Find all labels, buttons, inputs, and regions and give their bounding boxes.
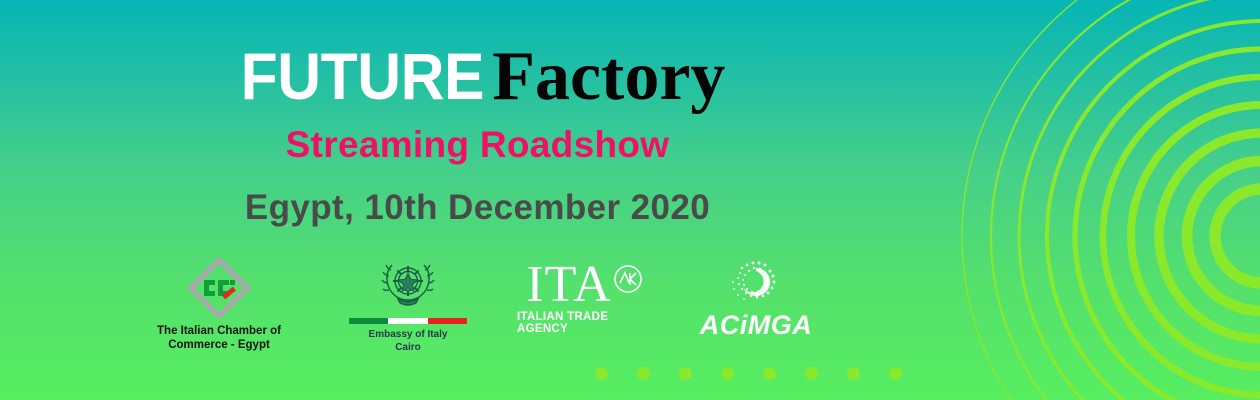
dot-row-decoration <box>595 367 902 380</box>
embassy-caption-line-1: Embassy of Italy <box>369 328 448 341</box>
acimga-wordmark: ACiMGA <box>700 310 813 341</box>
decor-dot <box>847 367 860 380</box>
event-banner: FUTUREFactory Streaming Roadshow Egypt, … <box>0 0 1260 400</box>
tricolor-band-green <box>349 318 388 324</box>
ita-caption: ITALIAN TRADE AGENCY <box>517 311 652 335</box>
event-title: FUTUREFactory <box>0 42 955 112</box>
event-date-location: Egypt, 10th December 2020 <box>0 188 955 228</box>
italian-tricolor-bar <box>349 318 467 324</box>
ita-circle-monogram-icon <box>613 264 643 294</box>
ita-letters: ITA <box>526 260 611 309</box>
tricolor-band-white <box>388 318 427 324</box>
decor-dot <box>637 367 650 380</box>
logo-acimga: ACiMGA <box>696 256 816 341</box>
decor-dot <box>889 367 902 380</box>
decor-dot <box>805 367 818 380</box>
logo-embassy-of-italy-cairo: Embassy of Italy Cairo <box>343 256 473 354</box>
event-subtitle: Streaming Roadshow <box>0 124 955 166</box>
acimga-dotted-spiral-icon <box>721 256 791 308</box>
embassy-caption: Embassy of Italy Cairo <box>369 328 448 354</box>
sponsor-logo-strip: The Italian Chamber of Commerce - Egypt <box>0 256 955 351</box>
title-factory-word: Factory <box>492 42 725 112</box>
title-future-word: FUTURE <box>240 43 483 109</box>
chamber-caption-line-1: The Italian Chamber of <box>157 324 281 338</box>
decor-dot <box>679 367 692 380</box>
headline-block: FUTUREFactory Streaming Roadshow Egypt, … <box>0 0 955 228</box>
logo-italian-chamber-of-commerce: The Italian Chamber of Commerce - Egypt <box>139 256 299 353</box>
decor-dot <box>721 367 734 380</box>
embassy-caption-line-2: Cairo <box>369 341 448 354</box>
tricolor-band-red <box>428 318 467 324</box>
italian-republic-emblem-icon <box>371 256 445 314</box>
decor-dot <box>595 367 608 380</box>
cc-diamond-emblem-icon <box>182 258 256 318</box>
chamber-caption: The Italian Chamber of Commerce - Egypt <box>157 324 281 353</box>
logo-italian-trade-agency: ITA ITALIAN TRADE AGENCY <box>517 256 652 335</box>
decor-dot <box>763 367 776 380</box>
chamber-caption-line-2: Commerce - Egypt <box>157 338 281 352</box>
ita-wordmark: ITA <box>526 260 642 309</box>
